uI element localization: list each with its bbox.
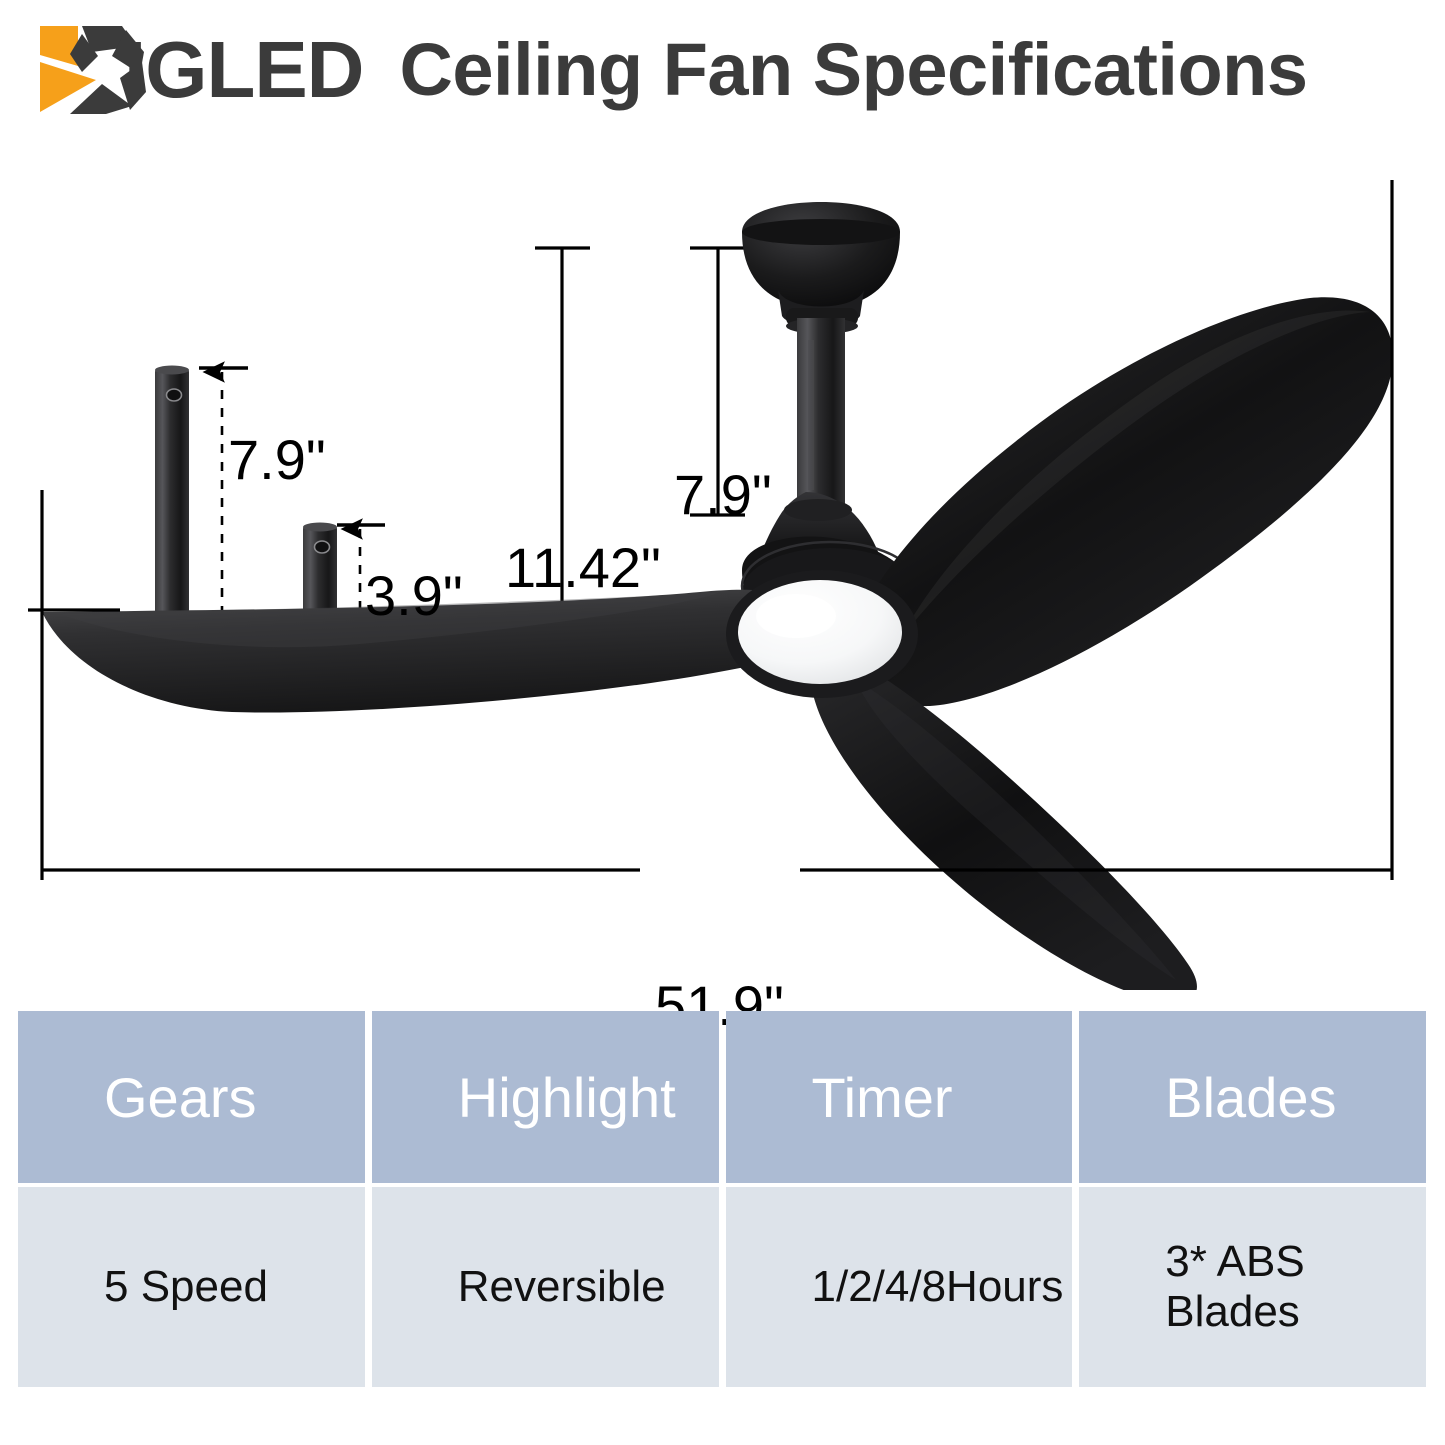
table-cell-highlight: Reversible — [372, 1187, 719, 1387]
led-light-dome — [726, 570, 918, 698]
fan-downrod — [797, 318, 845, 508]
table-cell-gears: 5 Speed — [18, 1187, 365, 1387]
specifications-table: Gears Highlight Timer Blades 5 Speed Rev… — [18, 1011, 1426, 1387]
dimension-label-downrod-long: 7.9" — [228, 432, 326, 488]
table-header-gears: Gears — [18, 1011, 365, 1183]
product-dimension-diagram: 7.9" 3.9" 11.42" 7.9" 51.9" — [0, 140, 1445, 990]
brand-wordmark: IGLED — [124, 30, 363, 110]
table-header-highlight: Highlight — [372, 1011, 719, 1183]
table-header-blades: Blades — [1079, 1011, 1426, 1183]
page-title: Ceiling Fan Specifications — [399, 33, 1307, 107]
table-cell-timer: 1/2/4/8Hours — [726, 1187, 1073, 1387]
fan-illustration — [0, 140, 1445, 990]
page-header: IGLED Ceiling Fan Specifications — [0, 0, 1445, 140]
table-cell-blades: 3* ABS Blades — [1079, 1187, 1426, 1387]
ceiling-canopy — [742, 202, 900, 334]
table-header-timer: Timer — [726, 1011, 1073, 1183]
dimension-label-downrod-short: 3.9" — [365, 568, 463, 624]
fan-blade-upper-right — [856, 297, 1393, 706]
dimension-label-canopy-height: 7.9" — [674, 467, 772, 523]
table-row: 5 Speed Reversible 1/2/4/8Hours 3* ABS B… — [18, 1187, 1426, 1387]
dimension-label-overall-height: 11.42" — [505, 540, 661, 596]
table-header-row: Gears Highlight Timer Blades — [18, 1011, 1426, 1183]
